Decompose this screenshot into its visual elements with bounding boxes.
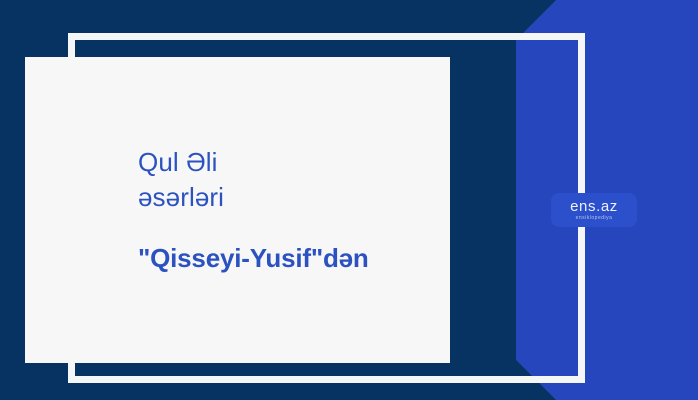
logo-wordmark: ens.az (570, 199, 618, 214)
text-block: Qul Əli əsərləri "Qisseyi-Yusif"dən (138, 145, 438, 275)
ensaz-logo-badge[interactable]: ens.az ensiklopediya (551, 193, 637, 227)
logo-tagline: ensiklopediya (576, 215, 613, 222)
content-card: Qul Əli əsərləri "Qisseyi-Yusif"dən (25, 57, 450, 363)
quote-line: "Qisseyi-Yusif"dən (138, 241, 438, 275)
title-line-1: Qul Əli (138, 145, 438, 180)
text-spacer (138, 215, 438, 241)
slide-canvas: Qul Əli əsərləri "Qisseyi-Yusif"dən ens.… (0, 0, 698, 400)
title-line-2: əsərləri (138, 180, 438, 215)
